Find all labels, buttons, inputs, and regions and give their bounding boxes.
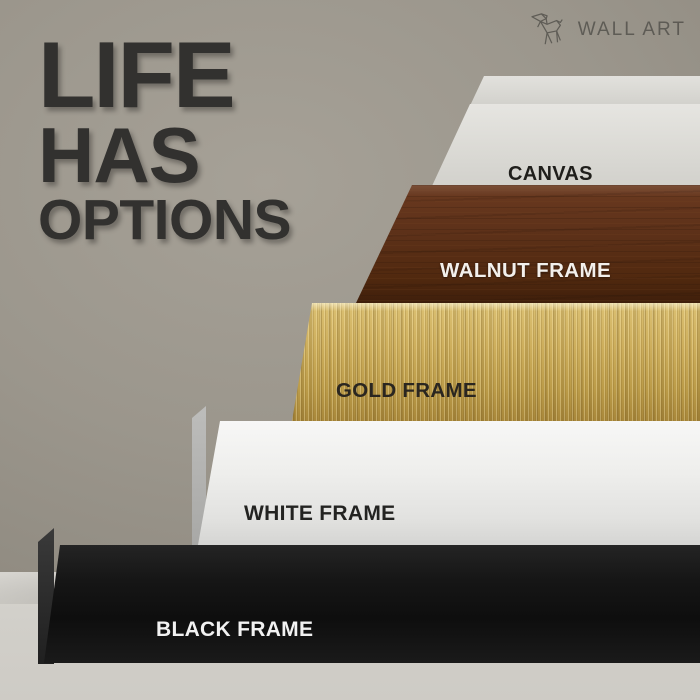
black-frame-name: BLACK FRAME <box>156 619 313 641</box>
black-frame-label: BLACK FRAME 1.70” <box>156 575 313 663</box>
option-panel-white-frame[interactable]: WHITE FRAME 1.70” <box>198 421 700 545</box>
brand-wordmark: WALL ART <box>578 19 686 41</box>
option-panel-walnut-frame[interactable]: WALNUT FRAME 1.70” <box>356 185 700 303</box>
option-panel-canvas-150[interactable]: CANVAS 1.50” <box>432 104 700 186</box>
page-title: LIFE HAS OPTIONS <box>38 34 291 246</box>
option-panel-black-frame[interactable]: BLACK FRAME 1.70” <box>44 545 700 663</box>
canvas-150-label: CANVAS 1.50” <box>508 122 593 186</box>
headline-line-3: OPTIONS <box>38 195 291 245</box>
white-frame-name: WHITE FRAME <box>244 503 395 525</box>
white-frame-label: WHITE FRAME 1.70” <box>244 459 395 545</box>
headline-line-2: HAS <box>38 121 291 190</box>
brand-logo[interactable]: WALL ART <box>528 12 686 48</box>
gold-frame-label: GOLD FRAME 1.70” <box>336 337 477 421</box>
black-frame-surface <box>44 545 700 663</box>
gold-frame-name: GOLD FRAME <box>336 380 477 401</box>
canvas-150-name: CANVAS <box>508 164 593 185</box>
origami-goat-icon <box>528 12 570 48</box>
walnut-frame-label: WALNUT FRAME 1.70” <box>440 217 611 303</box>
headline-line-1: LIFE <box>38 34 291 117</box>
walnut-frame-name: WALNUT FRAME <box>440 260 611 281</box>
product-options-infographic: WALL ART LIFE HAS OPTIONS CANVAS 0.75” C… <box>0 0 700 700</box>
option-panel-gold-frame[interactable]: GOLD FRAME 1.70” <box>292 303 700 421</box>
